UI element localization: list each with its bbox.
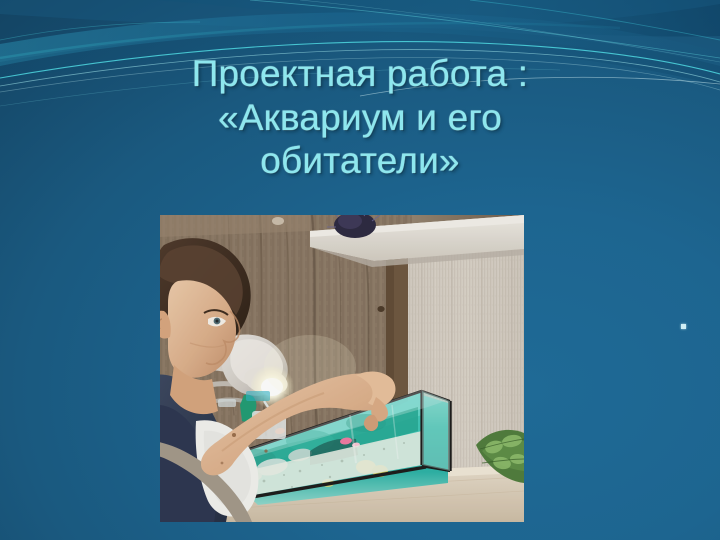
title-line-3: обитатели» (0, 139, 720, 183)
presentation-slide: Проектная работа : «Аквариум и его обита… (0, 0, 720, 540)
aquarium-photo (160, 215, 524, 522)
title-line-2: «Аквариум и его (0, 96, 720, 140)
title-line-1: Проектная работа : (0, 52, 720, 96)
empty-bullet-point (681, 324, 686, 329)
slide-title: Проектная работа : «Аквариум и его обита… (0, 52, 720, 183)
